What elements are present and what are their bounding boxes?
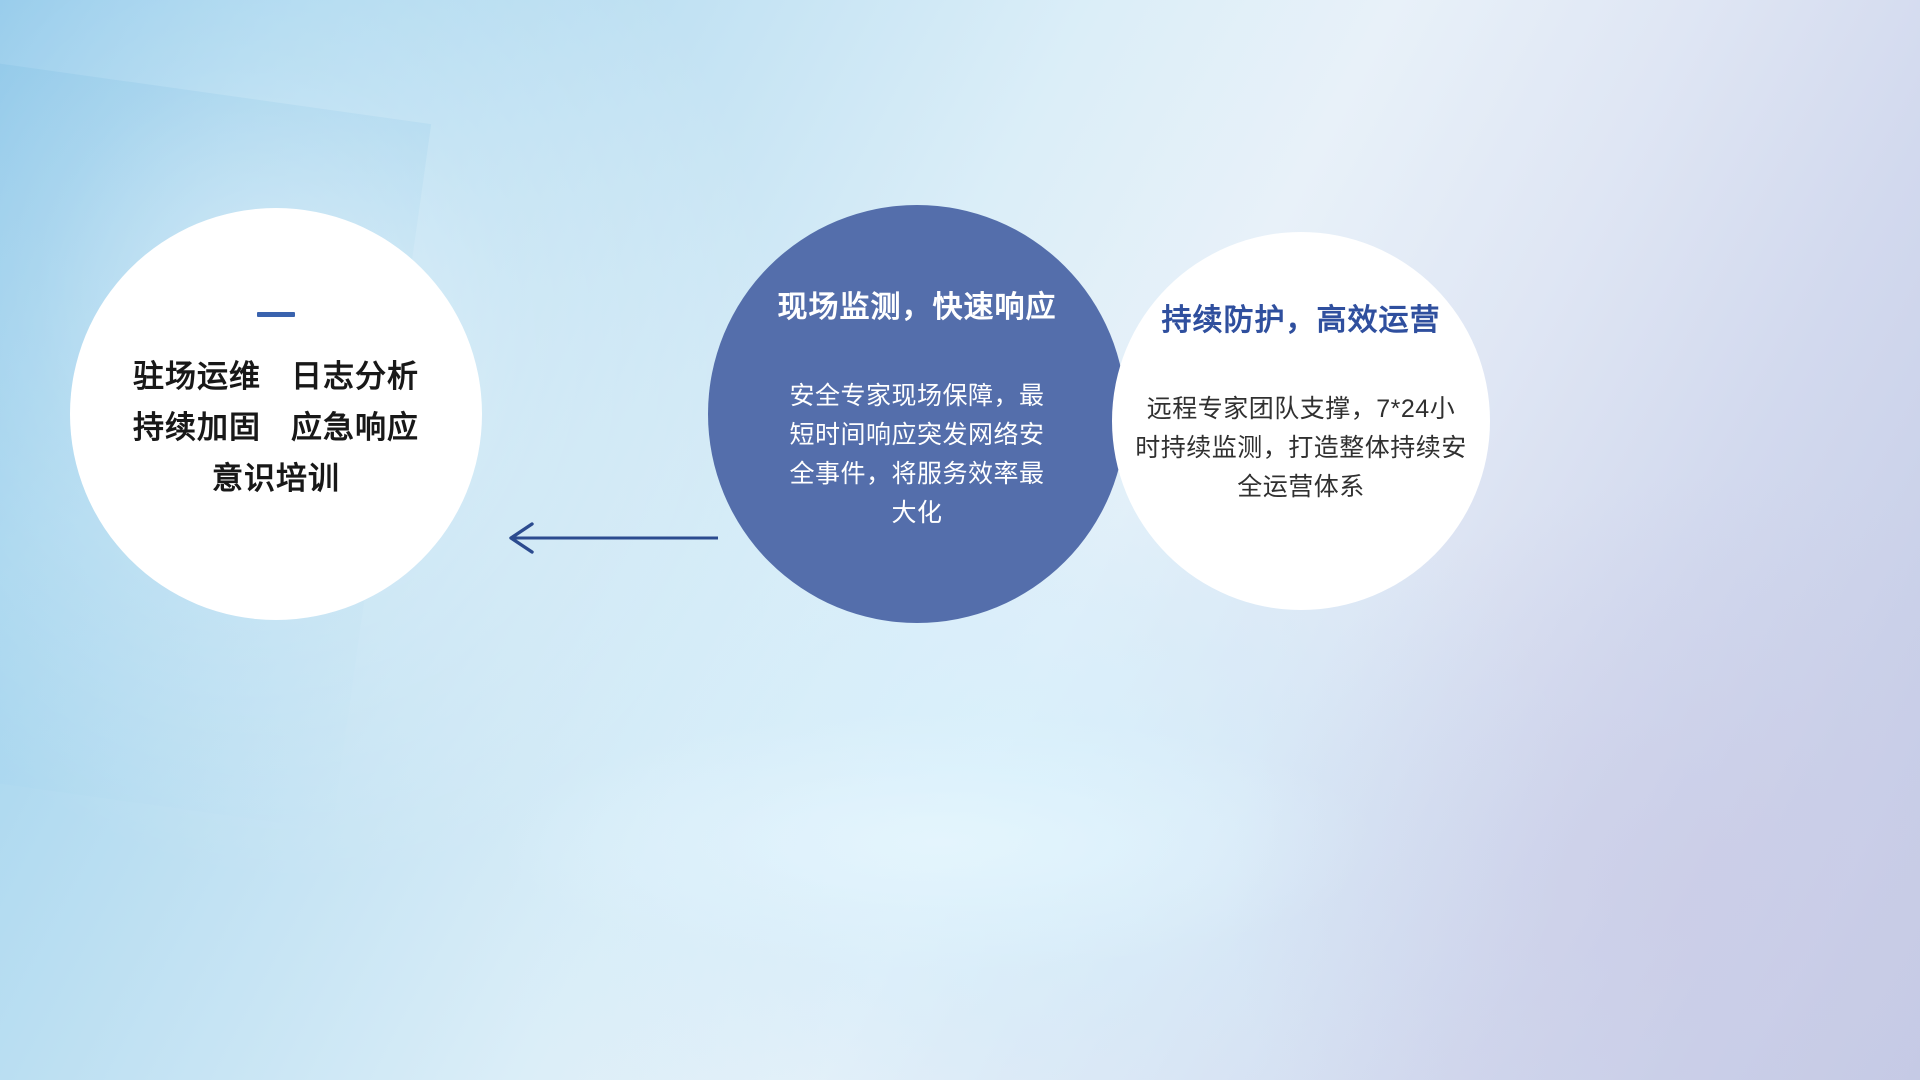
capability-item-emergency-response[interactable]: 应急响应 <box>291 412 419 443</box>
slide-canvas: 驻场运维 日志分析 持续加固 应急响应 意识培训 现场监测，快速响应 安全专家现… <box>0 0 1920 1080</box>
capability-list: 驻场运维 日志分析 持续加固 应急响应 意识培训 <box>133 361 419 494</box>
feature-circle-onsite[interactable]: 现场监测，快速响应 安全专家现场保障，最短时间响应突发网络安全事件，将服务效率最… <box>708 205 1126 623</box>
capability-row: 驻场运维 日志分析 <box>133 361 419 392</box>
feature-circle-continuous-title: 持续防护，高效运营 <box>1162 306 1441 336</box>
feature-circle-onsite-title: 现场监测，快速响应 <box>778 293 1057 323</box>
connector-arrow-left <box>492 518 718 558</box>
capability-item-onsite-ops[interactable]: 驻场运维 <box>133 361 261 392</box>
capability-row: 持续加固 应急响应 <box>133 412 419 443</box>
capability-item-awareness-training[interactable]: 意识培训 <box>212 463 340 494</box>
capability-item-continuous-hardening[interactable]: 持续加固 <box>133 412 261 443</box>
capability-item-log-analysis[interactable]: 日志分析 <box>291 361 419 392</box>
feature-circle-continuous-body: 远程专家团队支撑，7*24小时持续监测，打造整体持续安全运营体系 <box>1135 390 1467 507</box>
feature-circle-onsite-body: 安全专家现场保障，最短时间响应突发网络安全事件，将服务效率最大化 <box>777 377 1057 533</box>
capability-circle-left[interactable]: 驻场运维 日志分析 持续加固 应急响应 意识培训 <box>70 208 482 620</box>
horizontal-dash-icon <box>257 312 295 317</box>
feature-circle-continuous[interactable]: 持续防护，高效运营 远程专家团队支撑，7*24小时持续监测，打造整体持续安全运营… <box>1112 232 1490 610</box>
